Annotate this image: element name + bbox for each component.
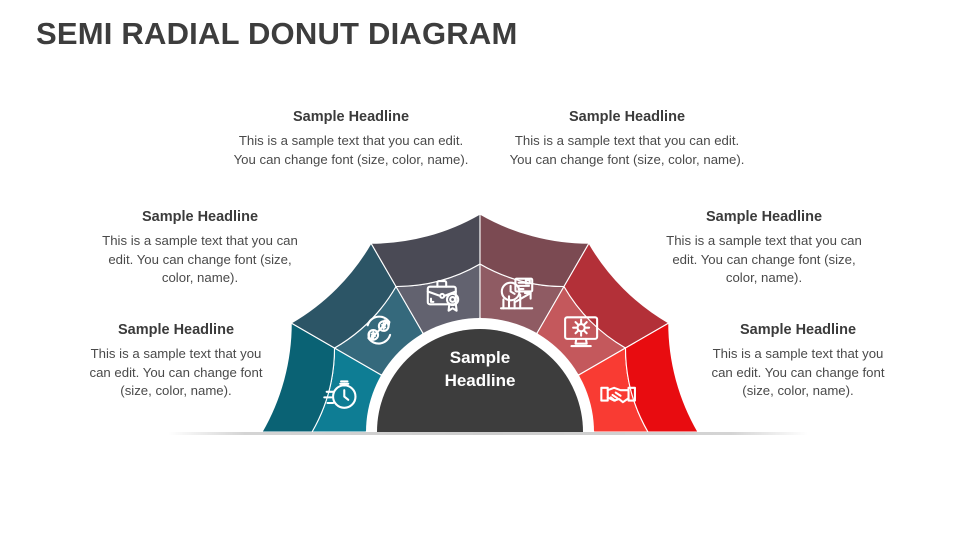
callout-label-1[interactable]: Sample Headline This is a sample text th…	[86, 322, 266, 401]
callout-headline-1: Sample Headline	[86, 322, 266, 339]
base-shadow-line	[168, 432, 808, 435]
callout-headline-3: Sample Headline	[228, 109, 474, 126]
callout-body-4: This is a sample text that you can edit.…	[504, 132, 750, 170]
slide-canvas: SEMI RADIAL DONUT DIAGRAM Sample Headlin…	[0, 0, 960, 540]
hub-label-line2: Headline	[377, 370, 583, 393]
donut-svg	[240, 190, 720, 446]
hub-label: Sample Headline	[377, 347, 583, 392]
callout-label-3[interactable]: Sample Headline This is a sample text th…	[228, 109, 474, 169]
callout-body-6: This is a sample text that you can edit.…	[708, 345, 888, 402]
hub-label-line1: Sample	[377, 347, 583, 370]
callout-label-6[interactable]: Sample Headline This is a sample text th…	[708, 322, 888, 401]
page-title: SEMI RADIAL DONUT DIAGRAM	[36, 16, 517, 52]
callout-headline-4: Sample Headline	[504, 109, 750, 126]
callout-body-3: This is a sample text that you can edit.…	[228, 132, 474, 170]
semi-radial-donut-chart	[240, 190, 720, 446]
callout-label-4[interactable]: Sample Headline This is a sample text th…	[504, 109, 750, 169]
callout-body-1: This is a sample text that you can edit.…	[86, 345, 266, 402]
callout-headline-6: Sample Headline	[708, 322, 888, 339]
